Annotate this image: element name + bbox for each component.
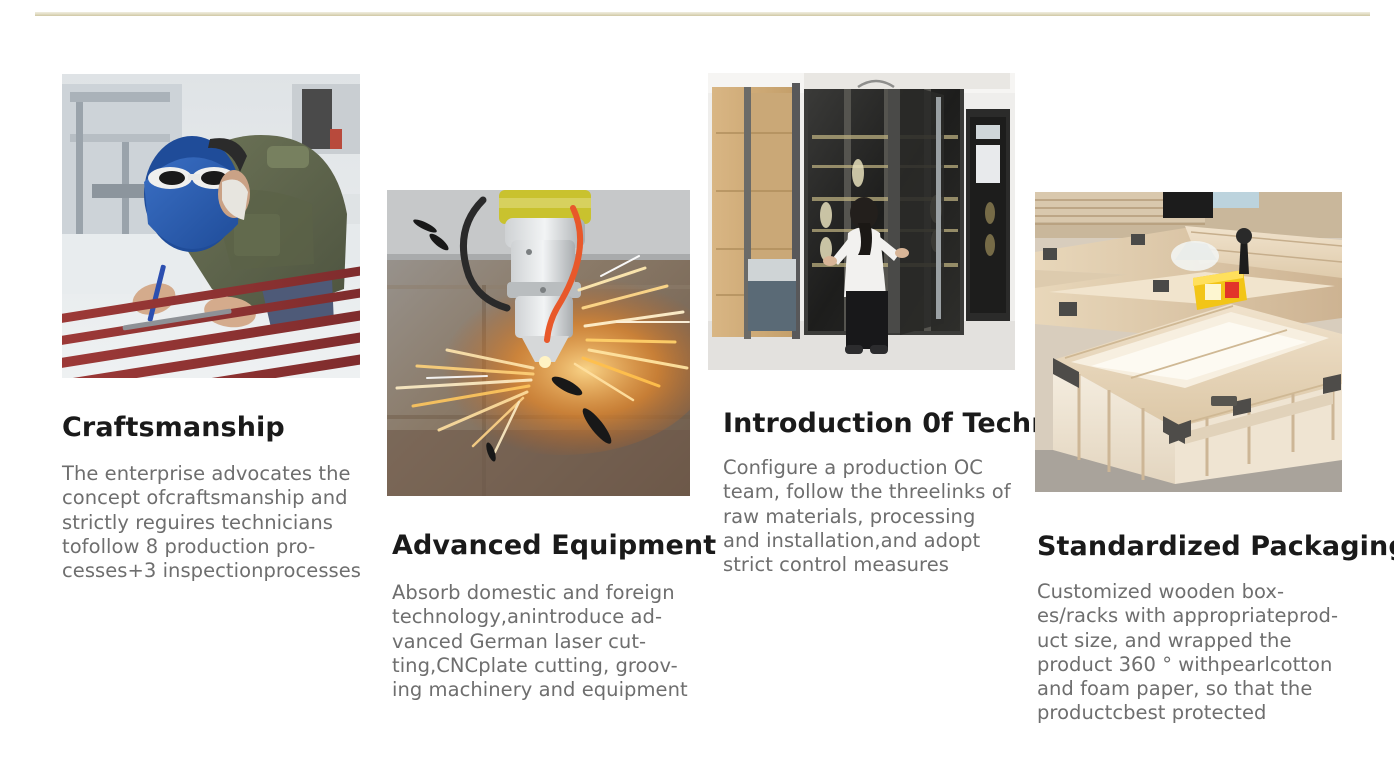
feature-body-advanced-equipment: Absorb domestic and foreign technology,a…: [392, 581, 697, 702]
wooden-crate-packaging-photo: [1035, 192, 1342, 492]
feature-body-craftsmanship: The enterprise advocates the concept ofc…: [62, 462, 362, 583]
feature-body-standardized-packaging: Customized wooden box- es/racks with app…: [1037, 580, 1347, 726]
worker-marking-steel-photo: [62, 74, 360, 378]
top-divider-rule: [35, 12, 1370, 16]
showroom-cabinet-inspection-photo: [708, 73, 1015, 370]
laser-cutting-sparks-photo: [387, 190, 690, 496]
feature-heading-craftsmanship: Craftsmanship: [62, 413, 285, 443]
feature-heading-advanced-equipment: Advanced Equipment: [392, 531, 716, 561]
feature-heading-standardized-packaging: Standardized Packaging: [1037, 532, 1394, 562]
feature-body-introduction-of-technology: Configure a production OC team, follow t…: [723, 456, 1023, 577]
feature-highlights-page: Craftsmanship The enterprise advocates t…: [0, 0, 1394, 759]
